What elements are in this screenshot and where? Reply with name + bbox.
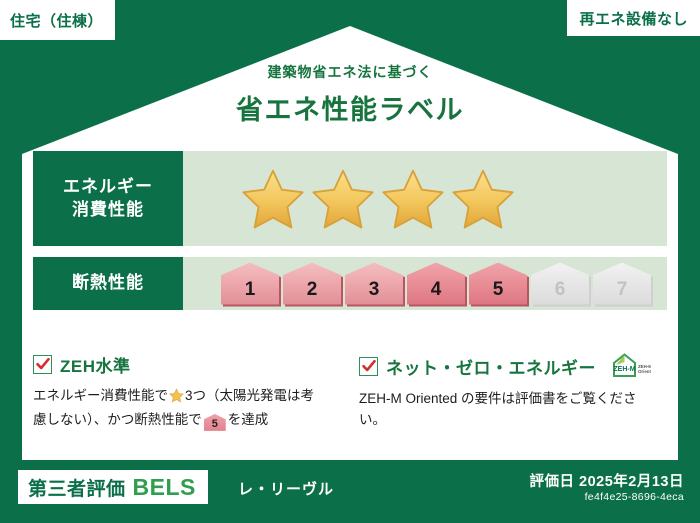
- inline-grade-value: 5: [212, 418, 218, 430]
- insulation-grade-number: 3: [369, 279, 380, 301]
- nze-criterion-title: ネット・ゼロ・エネルギー: [386, 354, 596, 379]
- insulation-grade-number: 5: [493, 279, 504, 301]
- nze-checkbox-checked-icon: [359, 357, 378, 376]
- renewable-equipment-text: 再エネ設備なし: [579, 8, 688, 29]
- insulation-grade-number: 1: [245, 279, 256, 301]
- label-footer: 第三者評価 BELS レ・リーヴル 評価日 2025年2月13日 fe4f4e2…: [0, 460, 700, 523]
- insulation-performance-value: 1234567: [183, 257, 667, 310]
- inline-star-icon: [169, 391, 184, 406]
- svg-text:Oriented: Oriented: [638, 369, 651, 374]
- zeh-desc-part3: を達成: [228, 412, 269, 427]
- insulation-grade-badge: 7: [593, 263, 651, 305]
- insulation-grade-badge: 4: [407, 263, 465, 305]
- criteria-section: ZEH水準 エネルギー消費性能で3つ（太陽光発電は考慮しない）、かつ断熱性能で5…: [33, 352, 667, 448]
- insulation-grade-badge: 5: [469, 263, 527, 305]
- heading-title: 省エネ性能ラベル: [0, 88, 700, 127]
- inline-grade-badge: 5: [204, 414, 226, 431]
- energy-label-line1: エネルギー: [63, 176, 153, 199]
- zeh-checkbox-checked-icon: [33, 355, 52, 374]
- insulation-performance-label: 断熱性能: [33, 257, 183, 310]
- nze-criterion: ネット・ゼロ・エネルギー ZEH-M ZEH-M Oriented ZEH-M …: [337, 352, 667, 448]
- star-icon: [240, 167, 306, 231]
- insulation-performance-row: 断熱性能 1234567: [33, 257, 667, 310]
- building-type-text: 住宅（住棟）: [10, 10, 103, 31]
- energy-performance-label: 住宅（住棟） 再エネ設備なし 建築物省エネ法に基づく 省エネ性能ラベル エネルギ…: [0, 0, 700, 523]
- building-type-tag: 住宅（住棟）: [0, 0, 115, 40]
- energy-label-line2: 消費性能: [72, 199, 144, 222]
- energy-consumption-row: エネルギー 消費性能: [33, 151, 667, 246]
- star-icon: [450, 167, 516, 231]
- evaluation-id: fe4f4e25-8696-4eca: [585, 491, 684, 503]
- insulation-grade-number: 6: [555, 279, 566, 301]
- insulation-grade-badge: 6: [531, 263, 589, 305]
- zeh-m-oriented-logo-icon: ZEH-M ZEH-M Oriented: [611, 352, 651, 380]
- label-heading: 建築物省エネ法に基づく 省エネ性能ラベル: [0, 62, 700, 127]
- zeh-criterion-description: エネルギー消費性能で3つ（太陽光発電は考慮しない）、かつ断熱性能で5を達成: [33, 386, 321, 431]
- heading-subtitle: 建築物省エネ法に基づく: [0, 62, 700, 82]
- insulation-grade-badge: 3: [345, 263, 403, 305]
- insulation-grade-badge: 2: [283, 263, 341, 305]
- zeh-desc-part1: エネルギー消費性能で: [33, 388, 168, 403]
- renewable-equipment-tag: 再エネ設備なし: [567, 0, 700, 36]
- insulation-grade-number: 2: [307, 279, 318, 301]
- bels-certification-box: 第三者評価 BELS: [18, 470, 208, 504]
- company-name: レ・リーヴル: [238, 478, 334, 499]
- performance-rows: エネルギー 消費性能 断熱性能 1234567: [33, 151, 667, 310]
- nze-criterion-header: ネット・ゼロ・エネルギー ZEH-M ZEH-M Oriented: [359, 352, 651, 380]
- energy-consumption-label: エネルギー 消費性能: [33, 151, 183, 246]
- nze-criterion-description: ZEH-M Oriented の要件は評価書をご覧ください。: [359, 389, 651, 431]
- zeh-criterion-header: ZEH水準: [33, 352, 321, 377]
- insulation-grade-scale: 1234567: [183, 263, 651, 305]
- insulation-grade-badge: 1: [221, 263, 279, 305]
- third-party-eval-label: 第三者評価: [28, 474, 126, 501]
- energy-consumption-value: [183, 151, 667, 246]
- insulation-grade-number: 4: [431, 279, 442, 301]
- insulation-grade-number: 7: [617, 279, 628, 301]
- zeh-criterion-title: ZEH水準: [60, 352, 131, 377]
- bels-logo-text: BELS: [133, 474, 196, 501]
- star-rating: [183, 167, 516, 231]
- star-icon: [380, 167, 446, 231]
- svg-text:ZEH-M: ZEH-M: [613, 366, 635, 373]
- insulation-label-line1: 断熱性能: [72, 272, 144, 295]
- evaluation-date: 評価日 2025年2月13日: [530, 470, 684, 491]
- zeh-criterion: ZEH水準 エネルギー消費性能で3つ（太陽光発電は考慮しない）、かつ断熱性能で5…: [33, 352, 337, 448]
- star-icon: [310, 167, 376, 231]
